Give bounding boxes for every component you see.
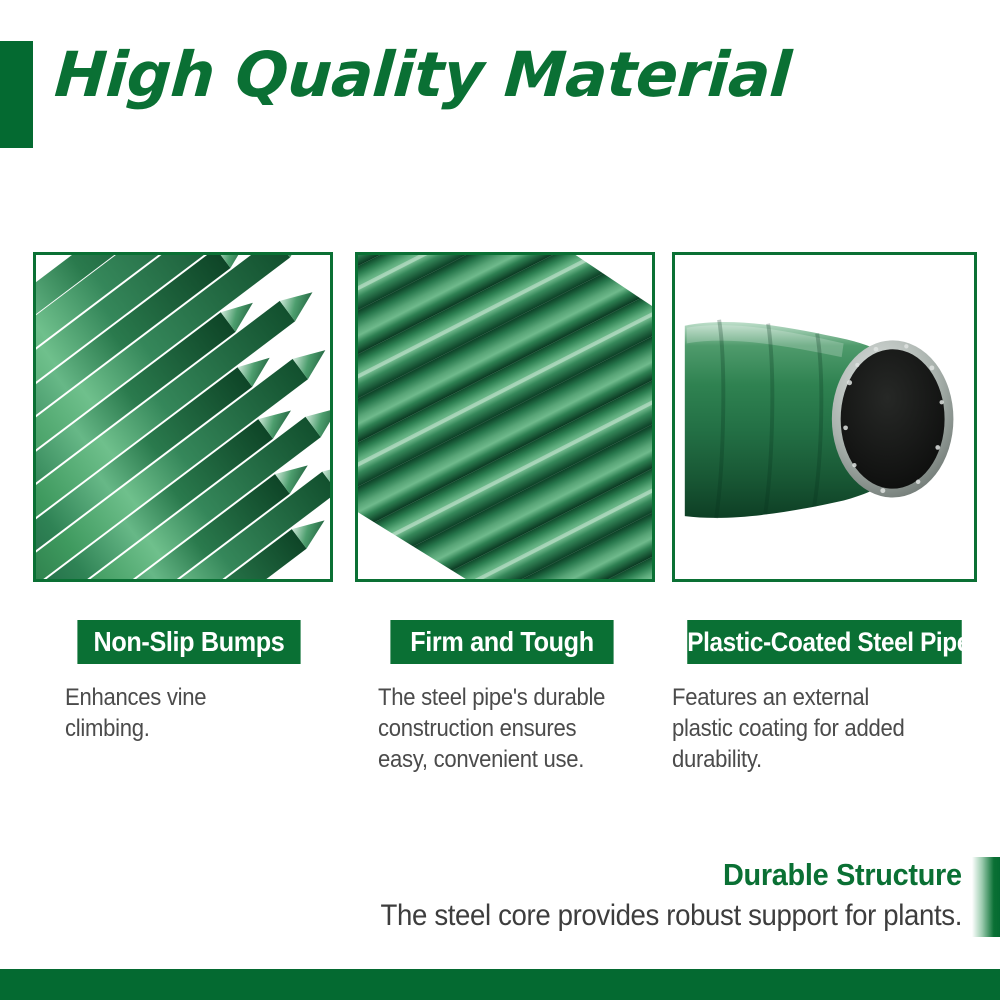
footer-subtitle: The steel core provides robust support f… — [381, 899, 962, 933]
feature-panels — [33, 252, 977, 582]
footer-bottom-bar — [0, 969, 1000, 1000]
green-rods-closeup-photo — [358, 255, 652, 579]
caption-description-1: Enhances vine climbing. — [65, 682, 293, 744]
caption-block-1: Non-Slip Bumps Enhances vine climbing. — [65, 620, 313, 744]
footer-accent-bar — [972, 857, 1000, 937]
caption-block-2: Firm and Tough The steel pipe's durable … — [378, 620, 626, 775]
footer-heading: Durable Structure — [723, 857, 962, 893]
feature-panel-1 — [33, 252, 333, 582]
footer: Durable Structure The steel core provide… — [0, 845, 1000, 970]
page-title: High Quality Material — [52, 38, 793, 111]
caption-badge-non-slip-bumps: Non-Slip Bumps — [77, 620, 300, 664]
pipe-cross-section-photo — [675, 255, 974, 579]
feature-panel-3 — [672, 252, 977, 582]
caption-badge-firm-and-tough: Firm and Tough — [390, 620, 613, 664]
caption-badge-plastic-coated-steel-pipe: Plastic-Coated Steel Pipe — [687, 620, 962, 664]
caption-description-3: Features an external plastic coating for… — [672, 682, 925, 775]
caption-description-2: The steel pipe's durable construction en… — [378, 682, 631, 775]
feature-panel-2 — [355, 252, 655, 582]
green-coated-stakes-bundle-photo — [36, 255, 330, 579]
header-accent-bar — [0, 41, 33, 148]
header: High Quality Material — [0, 0, 1000, 190]
caption-block-3: Plastic-Coated Steel Pipe Features an ex… — [672, 620, 977, 775]
